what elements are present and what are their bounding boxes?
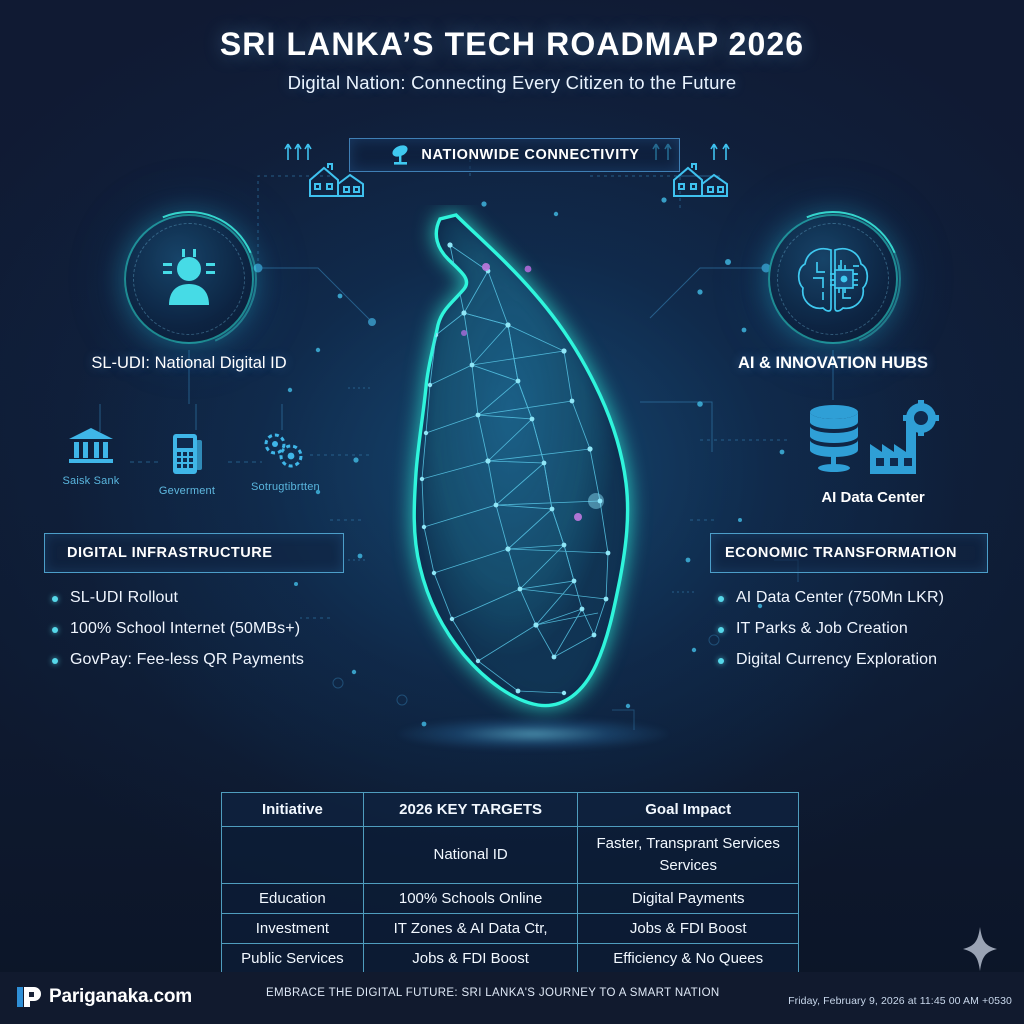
badge-ai-hubs[interactable]: AI & INNOVATION HUBS [768, 214, 898, 344]
table-row: Public Services Jobs & FDI Boost Efficie… [222, 943, 799, 973]
mini-icon-government[interactable]: Geverment [155, 432, 219, 497]
mini-icon-label: Sotrugtibrtten [251, 481, 315, 493]
list-item: IT Parks & Job Creation [710, 620, 988, 638]
nationwide-connectivity-banner[interactable]: NATIONWIDE CONNECTIVITY [349, 138, 680, 172]
badge-digital-id[interactable]: SL-UDI: National Digital ID [124, 214, 254, 344]
table-cell: Digital Payments [578, 883, 799, 913]
table-cell: Jobs & FDI Boost [363, 943, 578, 973]
digital-id-person-icon [153, 243, 225, 315]
mini-icon-label: Geverment [155, 485, 219, 497]
brand-name: Pariganaka.com [49, 986, 192, 1008]
infographic-canvas: SRI LANKA’S TECH ROADMAP 2026 Digital Na… [0, 0, 1024, 1024]
table-cell: Jobs & FDI Boost [578, 913, 799, 943]
panel-heading-box: ECONOMIC TRANSFORMATION [710, 533, 988, 573]
footer-bar: Pariganaka.com EMBRACE THE DIGITAL FUTUR… [0, 972, 1024, 1024]
list-item: Digital Currency Exploration [710, 651, 988, 669]
banner-label: NATIONWIDE CONNECTIVITY [421, 147, 639, 163]
panel-list: AI Data Center (750Mn LKR) IT Parks & Jo… [710, 589, 988, 669]
table-cell: 100% Schools Online [363, 883, 578, 913]
panel-digital-infrastructure: DIGITAL INFRASTRUCTURE SL-UDI Rollout 10… [44, 533, 344, 682]
table-cell: Education [222, 883, 364, 913]
list-item: GovPay: Fee-less QR Payments [44, 651, 344, 669]
ai-brain-chip-icon [791, 240, 875, 318]
table-cell: Efficiency & No Quees [578, 943, 799, 973]
ai-data-center-label: AI Data Center [788, 489, 958, 506]
pariganaka-logo-icon [16, 984, 42, 1010]
bank-icon [67, 426, 115, 466]
panel-economic-transformation: ECONOMIC TRANSFORMATION AI Data Center (… [710, 533, 988, 682]
satellite-dish-icon [389, 144, 413, 166]
page-subtitle: Digital Nation: Connecting Every Citizen… [0, 72, 1024, 94]
table-cell: IT Zones & AI Data Ctr, [363, 913, 578, 943]
map-glow-platform [398, 718, 668, 750]
table-row: Education 100% Schools Online Digital Pa… [222, 883, 799, 913]
panel-heading: ECONOMIC TRANSFORMATION [725, 545, 957, 561]
panel-heading-box: DIGITAL INFRASTRUCTURE [44, 533, 344, 573]
column-header: Initiative [222, 793, 364, 827]
value-chain-icons: Saisk Sank Geverment [55, 418, 355, 498]
badge-caption: AI & INNOVATION HUBS [738, 354, 928, 373]
gears-icon [257, 430, 309, 472]
panel-list: SL-UDI Rollout 100% School Internet (50M… [44, 589, 344, 669]
table-row: Investment IT Zones & AI Data Ctr, Jobs … [222, 913, 799, 943]
mini-icon-bank[interactable]: Saisk Sank [59, 426, 123, 487]
table-row: National ID Faster, Transprant Services … [222, 827, 799, 884]
column-header: Goal Impact [578, 793, 799, 827]
footer-timestamp: Friday, February 9, 2026 at 11:45 00 AM … [788, 995, 1012, 1007]
table-header-row: Initiative 2026 KEY TARGETS Goal Impact [222, 793, 799, 827]
page-title: SRI LANKA’S TECH ROADMAP 2026 [0, 26, 1024, 63]
antenna-icon-far-right [706, 140, 740, 168]
table-cell [222, 827, 364, 884]
roadmap-summary-table: Initiative 2026 KEY TARGETS Goal Impact … [221, 792, 799, 974]
list-item: 100% School Internet (50MBs+) [44, 620, 344, 638]
badge-caption: SL-UDI: National Digital ID [91, 354, 286, 373]
table-cell: National ID [363, 827, 578, 884]
footer-tagline: EMBRACE THE DIGITAL FUTURE: SRI LANKA'S … [266, 987, 720, 999]
list-item: SL-UDI Rollout [44, 589, 344, 607]
table-cell: Public Services [222, 943, 364, 973]
column-header: 2026 KEY TARGETS [363, 793, 578, 827]
ai-data-center-group[interactable]: AI Data Center [788, 400, 958, 506]
table-cell: Investment [222, 913, 364, 943]
list-item: AI Data Center (750Mn LKR) [710, 589, 988, 607]
sparkle-icon [963, 927, 997, 971]
mini-icon-settings[interactable]: Sotrugtibrtten [251, 430, 315, 493]
antenna-icon-left [282, 140, 316, 168]
sri-lanka-wireframe-map [368, 205, 698, 745]
brand-logo[interactable]: Pariganaka.com [16, 984, 192, 1010]
mini-icon-label: Saisk Sank [59, 475, 123, 487]
pos-terminal-icon [167, 432, 207, 476]
table-cell: Faster, Transprant Services Services [578, 827, 799, 884]
page-header: SRI LANKA’S TECH ROADMAP 2026 Digital Na… [0, 26, 1024, 94]
panel-heading: DIGITAL INFRASTRUCTURE [67, 545, 272, 561]
database-factory-gear-icon [798, 400, 948, 478]
